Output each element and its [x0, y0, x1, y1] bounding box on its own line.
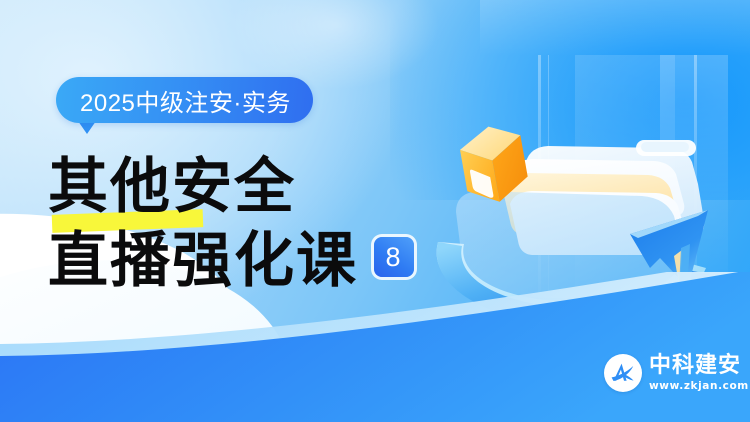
title-line-2-wrapper: 直播强化课 8 [48, 224, 468, 298]
mountain-swoosh-logo-icon [604, 354, 642, 392]
brand-name: 中科建安 [649, 355, 749, 377]
title-block: 其他安全 直播强化课 8 [48, 150, 468, 298]
folder-tab-label [636, 140, 696, 156]
title-line-1-wrapper: 其他安全 [48, 150, 468, 224]
background-top-shade [480, 0, 750, 56]
title-line-1: 其他安全 [48, 152, 296, 222]
title-line-2: 直播强化课 [48, 224, 358, 298]
course-category-label: 2025中级注安·实务 [80, 83, 291, 118]
episode-number-badge: 8 [374, 237, 414, 277]
brand-logo-text: 中科建安 www.zkjan.com [649, 355, 749, 392]
brand-logo: 中科建安 www.zkjan.com [604, 354, 749, 392]
course-promo-banner: 2025中级注安·实务 其他安全 直播强化课 8 中科建安 www.zkjan.… [0, 0, 750, 422]
brand-url: www.zkjan.com [649, 381, 749, 392]
course-category-badge: 2025中级注安·实务 [56, 77, 313, 123]
